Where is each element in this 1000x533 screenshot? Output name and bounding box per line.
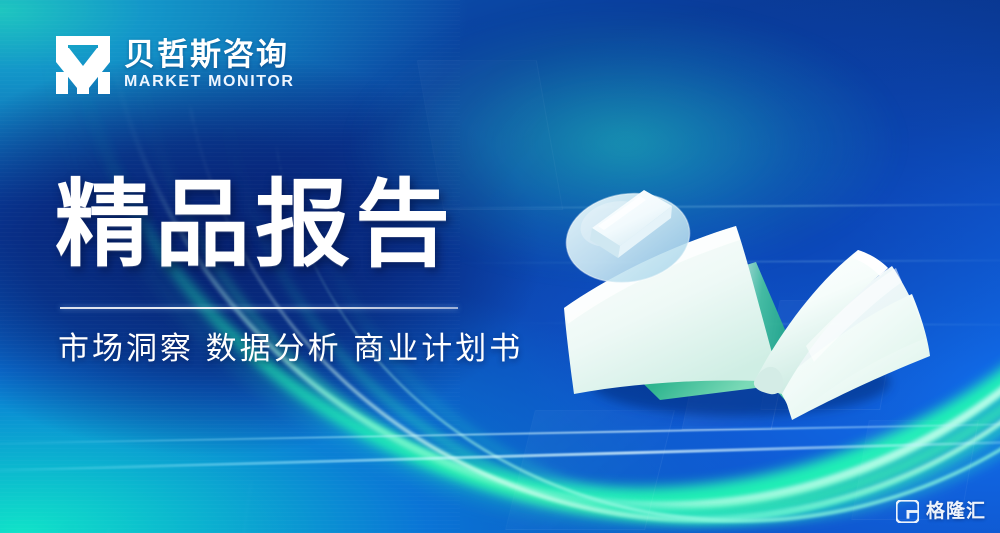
open-book-illustration bbox=[540, 150, 930, 425]
brand-wordmark: 贝哲斯咨询 MARKET MONITOR bbox=[124, 39, 295, 91]
brand-name-cn: 贝哲斯咨询 bbox=[124, 39, 295, 72]
page-title: 精品报告 bbox=[55, 178, 455, 273]
gelonghui-g-logo-icon bbox=[896, 500, 919, 523]
brand-logo[interactable]: 贝哲斯咨询 MARKET MONITOR bbox=[56, 36, 295, 94]
report-banner: 贝哲斯咨询 MARKET MONITOR 精品报告 市场洞察 数据分析 商业计划… bbox=[0, 0, 1000, 533]
page-subtitle: 市场洞察 数据分析 商业计划书 bbox=[58, 330, 523, 369]
market-monitor-m-logo-icon bbox=[56, 36, 110, 94]
watermark-label: 格隆汇 bbox=[926, 502, 986, 521]
title-divider bbox=[60, 307, 458, 309]
watermark: 格隆汇 bbox=[896, 500, 986, 523]
brand-name-en: MARKET MONITOR bbox=[124, 74, 295, 91]
